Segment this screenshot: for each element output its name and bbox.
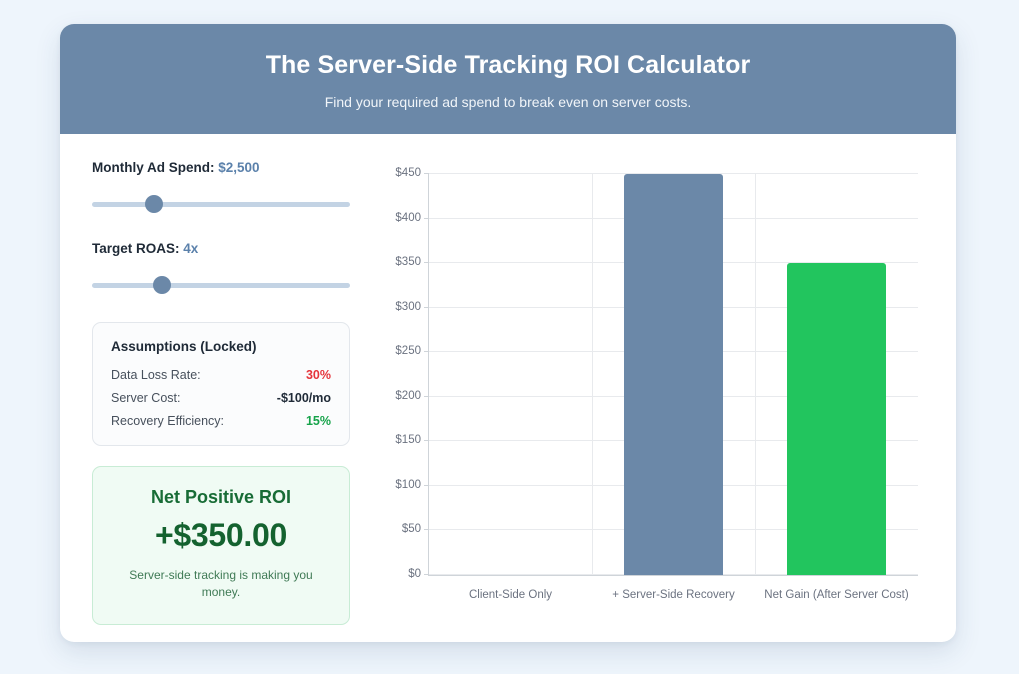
chart-ytick-label: $200 <box>395 390 421 402</box>
chart-bars: Client-Side Only+ Server-Side RecoveryNe… <box>429 174 918 575</box>
chart-bar-slot: Net Gain (After Server Cost) <box>755 174 918 575</box>
chart-ytick-label: $100 <box>395 479 421 491</box>
target-roas-label: Target ROAS: 4x <box>92 241 350 256</box>
assumptions-panel: Assumptions (Locked) Data Loss Rate: 30%… <box>92 322 350 446</box>
chart-plot-area: $0$50$100$150$200$250$300$350$400$450 Cl… <box>428 174 918 576</box>
assumption-row-server-cost: Server Cost: -$100/mo <box>111 391 331 405</box>
chart-ytick-label: $150 <box>395 434 421 446</box>
body-area: Monthly Ad Spend: $2,500 Target ROAS: 4x <box>60 134 956 642</box>
chart-ytick-label: $350 <box>395 256 421 268</box>
chart-ytick-label: $50 <box>402 523 421 535</box>
ad-spend-control: Monthly Ad Spend: $2,500 <box>92 160 350 213</box>
ad-spend-slider[interactable] <box>92 195 350 213</box>
target-roas-control: Target ROAS: 4x <box>92 241 350 294</box>
chart-ytick-label: $0 <box>408 568 421 580</box>
roi-bar-chart: $0$50$100$150$200$250$300$350$400$450 Cl… <box>372 166 918 618</box>
target-roas-slider-track[interactable] <box>92 283 350 288</box>
assumption-label: Data Loss Rate: <box>111 368 201 382</box>
target-roas-slider-thumb[interactable] <box>153 276 171 294</box>
ad-spend-slider-track[interactable] <box>92 202 350 207</box>
chart-xtick-label: Client-Side Only <box>429 589 592 601</box>
roi-amount: +$350.00 <box>107 517 335 554</box>
ad-spend-label: Monthly Ad Spend: $2,500 <box>92 160 350 175</box>
chart-bar[interactable] <box>787 263 886 575</box>
page-subtitle: Find your required ad spend to break eve… <box>325 94 692 110</box>
assumption-value: -$100/mo <box>277 391 331 405</box>
assumption-label: Server Cost: <box>111 391 180 405</box>
chart-xtick-label: + Server-Side Recovery <box>592 589 755 601</box>
chart-bar-slot: + Server-Side Recovery <box>592 174 755 575</box>
chart-xtick-label: Net Gain (After Server Cost) <box>755 589 918 601</box>
target-roas-label-text: Target ROAS: <box>92 241 180 256</box>
ad-spend-value: $2,500 <box>218 160 259 175</box>
assumption-value: 30% <box>306 368 331 382</box>
roi-note: Server-side tracking is making you money… <box>107 567 335 602</box>
assumption-row-recovery-efficiency: Recovery Efficiency: 15% <box>111 414 331 428</box>
chart-bar-slot: Client-Side Only <box>429 174 592 575</box>
target-roas-value: 4x <box>183 241 198 256</box>
chart-ytick-label: $300 <box>395 301 421 313</box>
chart-ytick-label: $450 <box>395 167 421 179</box>
assumption-value: 15% <box>306 414 331 428</box>
chart-ytick-label: $400 <box>395 212 421 224</box>
ad-spend-label-text: Monthly Ad Spend: <box>92 160 214 175</box>
page-title: The Server-Side Tracking ROI Calculator <box>266 52 751 80</box>
app-header: The Server-Side Tracking ROI Calculator … <box>60 24 956 134</box>
ad-spend-slider-thumb[interactable] <box>145 195 163 213</box>
controls-panel: Monthly Ad Spend: $2,500 Target ROAS: 4x <box>92 160 350 618</box>
calculator-card: The Server-Side Tracking ROI Calculator … <box>60 24 956 642</box>
chart-ytick-label: $250 <box>395 345 421 357</box>
assumption-row-data-loss-rate: Data Loss Rate: 30% <box>111 368 331 382</box>
assumption-label: Recovery Efficiency: <box>111 414 224 428</box>
roi-result-card: Net Positive ROI +$350.00 Server-side tr… <box>92 466 350 625</box>
roi-status-title: Net Positive ROI <box>107 487 335 508</box>
assumptions-title: Assumptions (Locked) <box>111 339 331 354</box>
chart-panel: $0$50$100$150$200$250$300$350$400$450 Cl… <box>372 160 924 618</box>
chart-bar[interactable] <box>624 174 723 575</box>
target-roas-slider[interactable] <box>92 276 350 294</box>
